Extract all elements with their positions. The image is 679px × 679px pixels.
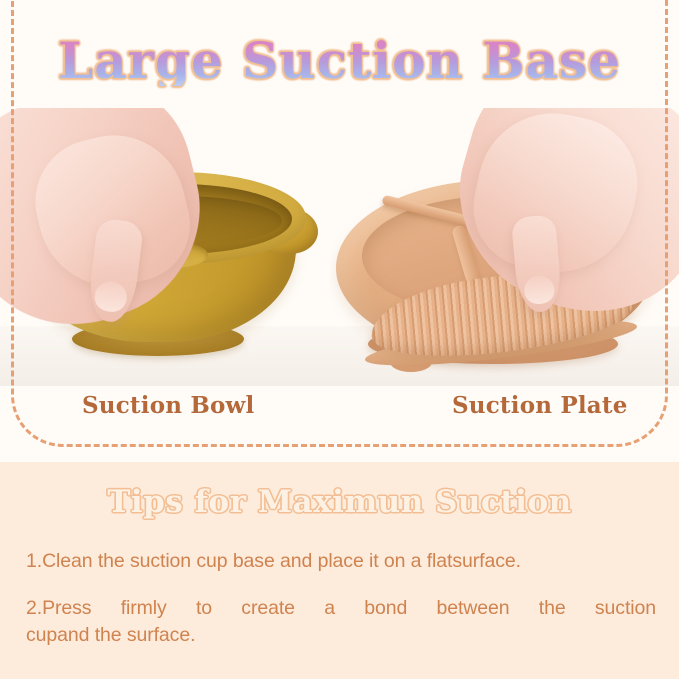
- tip-item-2: 2.Press firmly to create a bond between …: [26, 595, 656, 649]
- headline-container: Large Suction Base: [0, 36, 679, 86]
- tip-item-2-line-1: 2.Press firmly to create a bond between …: [26, 595, 656, 622]
- product-label-suction-plate: Suction Plate: [452, 392, 628, 419]
- product-photo-suction-bowl: [0, 108, 330, 386]
- left-fingernail: [93, 280, 128, 314]
- tip-item-2-line-2: cupand the surface.: [26, 622, 656, 649]
- page-title: Large Suction Base: [52, 36, 627, 86]
- tips-section: Tips for Maximun Suction 1.Clean the suc…: [0, 462, 679, 679]
- tips-heading: Tips for Maximun Suction: [0, 484, 679, 520]
- right-fingernail: [523, 275, 555, 306]
- product-photo-suction-plate: [330, 108, 679, 386]
- product-label-row: Suction Bowl Suction Plate: [0, 392, 679, 432]
- product-photo-row: [0, 108, 679, 386]
- infographic-canvas: Large Suction Base Suction Bowl Suction …: [0, 0, 679, 679]
- top-panel: Large Suction Base Suction Bowl Suction …: [0, 0, 679, 462]
- tip-item-1: 1.Clean the suction cup base and place i…: [26, 548, 656, 575]
- product-label-suction-bowl: Suction Bowl: [82, 392, 255, 419]
